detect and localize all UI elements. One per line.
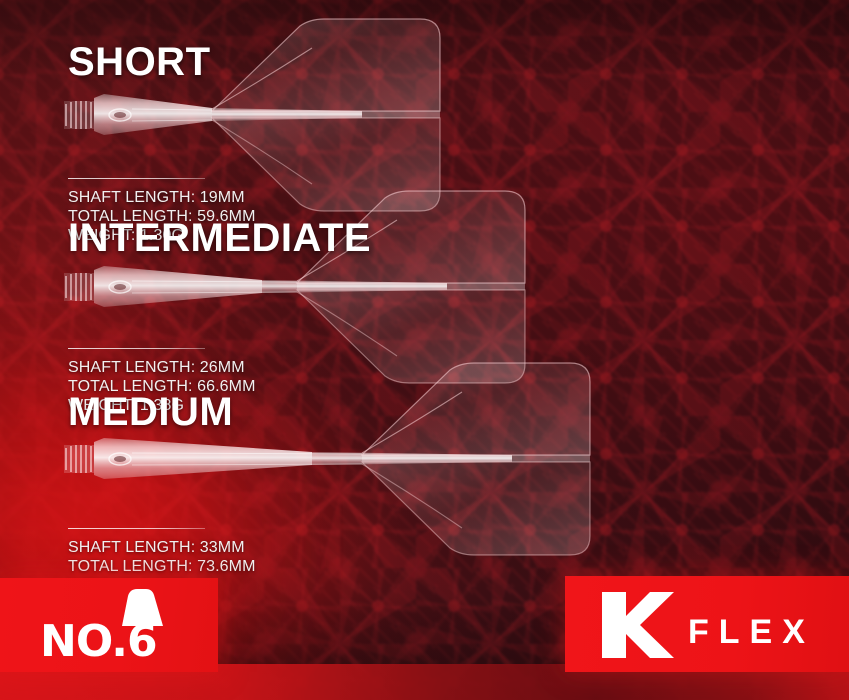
- no6-logo-text: NO.6: [40, 622, 157, 662]
- variant-divider-intermediate: [68, 348, 205, 349]
- variant-block-intermediate: INTERMEDIATE SHAFT LENGTH: 26MM TOTAL LE…: [68, 218, 371, 415]
- variant-title-intermediate: INTERMEDIATE: [68, 218, 371, 258]
- spec-shaft-length-medium: SHAFT LENGTH: 33MM: [68, 538, 256, 557]
- kflex-logo-inner: FLEX: [600, 590, 815, 665]
- variant-divider-medium: [68, 528, 205, 529]
- variant-block-short: SHORT SHAFT LENGTH: 19MM TOTAL LENGTH: 5…: [68, 42, 256, 245]
- spec-shaft-length-intermediate: SHAFT LENGTH: 26MM: [68, 358, 371, 377]
- no6-logo-inner: NO.6: [40, 588, 200, 662]
- variant-title-medium: MEDIUM: [68, 392, 256, 432]
- variant-block-medium: MEDIUM SHAFT LENGTH: 33MM TOTAL LENGTH: …: [68, 392, 256, 595]
- product-hero-image: SHORT SHAFT LENGTH: 19MM TOTAL LENGTH: 5…: [0, 0, 849, 700]
- kflex-logo-banner: FLEX: [565, 576, 849, 672]
- spec-shaft-length-short: SHAFT LENGTH: 19MM: [68, 188, 256, 207]
- k-mark-icon: [600, 590, 674, 665]
- kflex-logo-text: FLEX: [688, 607, 815, 649]
- no6-logo-banner: NO.6: [0, 578, 218, 672]
- spec-total-length-medium: TOTAL LENGTH: 73.6MM: [68, 557, 256, 576]
- variant-divider-short: [68, 178, 205, 179]
- variant-title-short: SHORT: [68, 42, 256, 82]
